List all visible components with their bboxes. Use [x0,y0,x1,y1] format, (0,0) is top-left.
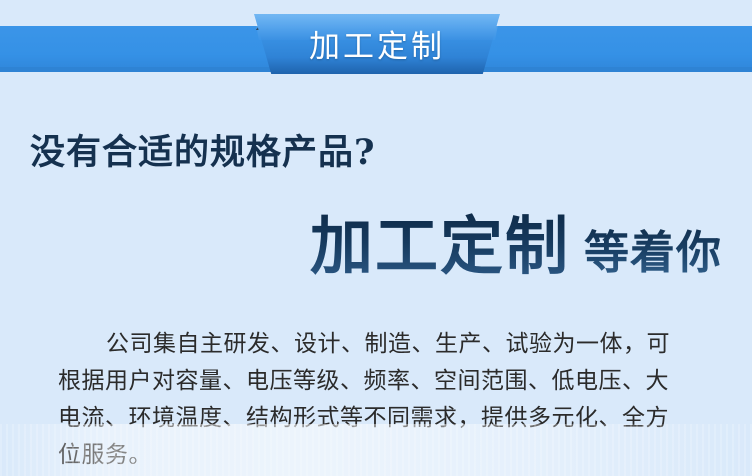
body-paragraph: 公司集自主研发、设计、制造、生产、试验为一体，可 根据用户对容量、电压等级、频率… [58,326,718,474]
section-banner: 加工定制 [0,0,752,86]
paragraph-line-2: 根据用户对容量、电压等级、频率、空间范围、低电压、大 [58,363,718,400]
promo-page: 加工定制 没有合适的规格产品? 加工定制等着你 公司集自主研发、设计、制造、生产… [0,0,752,476]
hero-line: 加工定制等着你 [0,196,722,287]
paragraph-line-1: 公司集自主研发、设计、制造、生产、试验为一体，可 [58,326,718,363]
paragraph-line-3: 电流、环境温度、结构形式等不同需求，提供多元化、全方 [58,400,718,437]
paragraph-line-4: 位服务。 [58,437,718,474]
hero-suffix-text: 等着你 [584,226,722,279]
banner-title: 加工定制 [254,14,500,72]
headline-question: 没有合适的规格产品? [30,124,376,175]
hero-main-text: 加工定制 [310,209,570,283]
